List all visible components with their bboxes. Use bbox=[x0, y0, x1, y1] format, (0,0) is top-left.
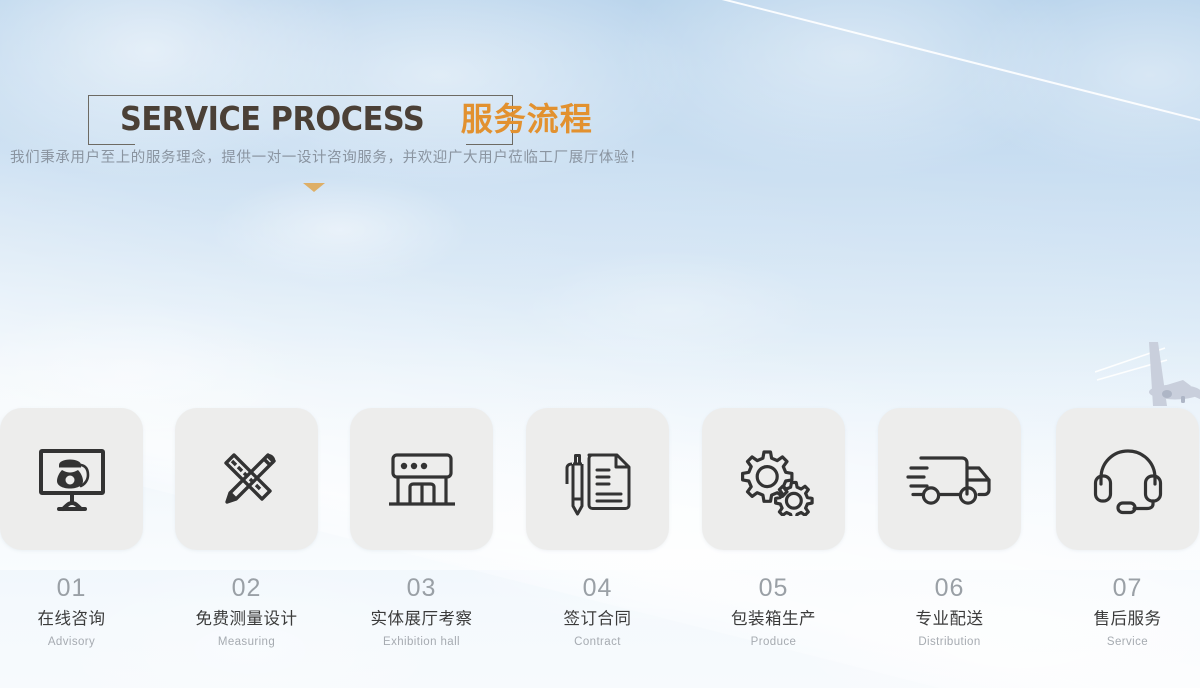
page-title-english: SERVICE PROCESS bbox=[120, 102, 424, 135]
page-title-chinese: 服务流程 bbox=[461, 100, 593, 138]
step-name-cn: 包装箱生产 bbox=[702, 611, 845, 628]
gears-icon bbox=[733, 442, 815, 516]
step-number: 01 bbox=[0, 576, 143, 601]
page-subtitle: 我们秉承用户至上的服务理念，提供一对一设计咨询服务，并欢迎广大用户莅临工厂展厅体… bbox=[10, 146, 644, 167]
service-process-steps: 01 在线咨询 Advisory bbox=[0, 408, 1200, 668]
chevron-down-icon bbox=[303, 183, 325, 192]
step-item-03[interactable]: 03 实体展厅考察 Exhibition hall bbox=[350, 408, 493, 648]
cloud-shape bbox=[620, 0, 1080, 180]
cloud-shape bbox=[520, 250, 820, 370]
step-icon-card[interactable] bbox=[526, 408, 669, 550]
step-item-05[interactable]: 05 包装箱生产 Produce bbox=[702, 408, 845, 648]
step-name-cn: 专业配送 bbox=[878, 611, 1021, 628]
step-name-en: Produce bbox=[702, 637, 845, 649]
step-name-en: Contract bbox=[526, 637, 669, 649]
cloud-shape bbox=[210, 175, 470, 285]
step-name-en: Service bbox=[1056, 637, 1199, 649]
step-item-02[interactable]: 02 免费测量设计 Measuring bbox=[175, 408, 318, 648]
step-icon-card[interactable] bbox=[1056, 408, 1199, 550]
storefront-icon bbox=[382, 444, 462, 514]
step-icon-card[interactable] bbox=[878, 408, 1021, 550]
step-icon-card[interactable] bbox=[702, 408, 845, 550]
step-name-en: Exhibition hall bbox=[350, 637, 493, 649]
step-number: 02 bbox=[175, 576, 318, 601]
cloud-shape bbox=[960, 0, 1200, 180]
step-number: 04 bbox=[526, 576, 669, 601]
page-title: SERVICE PROCESS服务流程 bbox=[120, 102, 593, 135]
step-number: 03 bbox=[350, 576, 493, 601]
ruler-pencil-icon bbox=[208, 443, 286, 515]
step-icon-card[interactable] bbox=[175, 408, 318, 550]
step-icon-card[interactable] bbox=[350, 408, 493, 550]
step-number: 05 bbox=[702, 576, 845, 601]
step-number: 06 bbox=[878, 576, 1021, 601]
headset-icon bbox=[1090, 442, 1166, 516]
step-item-06[interactable]: 06 专业配送 Distribution bbox=[878, 408, 1021, 648]
step-name-cn: 实体展厅考察 bbox=[350, 611, 493, 628]
step-item-04[interactable]: 04 签订合同 Contract bbox=[526, 408, 669, 648]
monitor-phone-icon bbox=[33, 443, 111, 515]
step-name-cn: 免费测量设计 bbox=[175, 611, 318, 628]
step-item-01[interactable]: 01 在线咨询 Advisory bbox=[0, 408, 143, 648]
step-name-en: Measuring bbox=[175, 637, 318, 649]
title-frame-top-line bbox=[132, 95, 469, 96]
step-name-cn: 售后服务 bbox=[1056, 611, 1199, 628]
step-name-cn: 签订合同 bbox=[526, 611, 669, 628]
step-icon-card[interactable] bbox=[0, 408, 143, 550]
step-name-en: Distribution bbox=[878, 637, 1021, 649]
delivery-truck-icon bbox=[905, 448, 995, 510]
diagonal-contrail-edge bbox=[0, 0, 1200, 170]
step-name-en: Advisory bbox=[0, 637, 143, 649]
pen-document-icon bbox=[559, 442, 637, 516]
step-number: 07 bbox=[1056, 576, 1199, 601]
service-process-banner: SERVICE PROCESS服务流程 我们秉承用户至上的服务理念，提供一对一设… bbox=[0, 0, 1200, 688]
step-item-07[interactable]: 07 售后服务 Service bbox=[1056, 408, 1199, 648]
step-name-cn: 在线咨询 bbox=[0, 611, 143, 628]
